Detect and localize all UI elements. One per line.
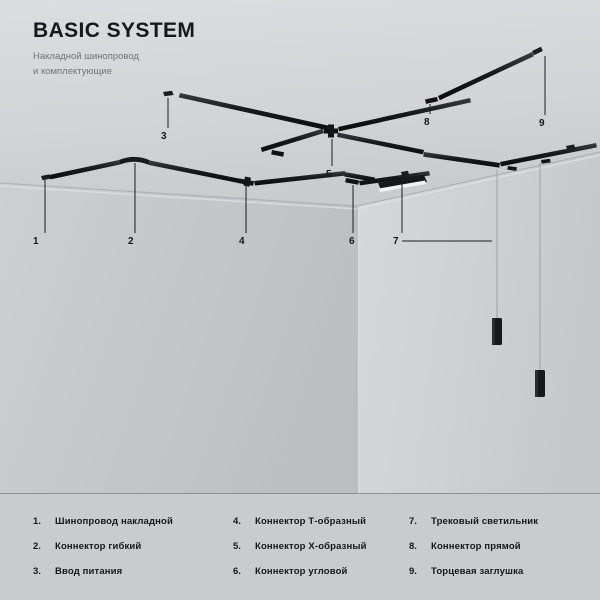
legend-item-1: 1. Шинопровод накладной xyxy=(33,516,173,527)
page-subtitle-line2: и комплектующие xyxy=(33,65,195,80)
legend-column-3: 7. Трековый светильник 8. Коннектор прям… xyxy=(409,516,538,591)
legend-number-2: 2. xyxy=(33,541,55,552)
legend-label-5: Коннектор Х-образный xyxy=(255,541,367,552)
legend-label-7: Трековый светильник xyxy=(431,516,538,527)
legend-item-9: 9. Торцевая заглушка xyxy=(409,566,538,577)
poster-header: BASIC SYSTEM Накладной шинопровод и комп… xyxy=(33,20,195,79)
section-divider xyxy=(0,493,600,494)
legend-number-3: 3. xyxy=(33,566,55,577)
legend-column-1: 1. Шинопровод накладной 2. Коннектор гиб… xyxy=(33,516,173,591)
callout-number-1: 1 xyxy=(33,237,39,247)
legend-number-8: 8. xyxy=(409,541,431,552)
legend-number-4: 4. xyxy=(233,516,255,527)
legend-item-4: 4. Коннектор Т-образный xyxy=(233,516,367,527)
callout-number-3: 3 xyxy=(161,132,167,142)
callout-number-7: 7 xyxy=(393,237,399,247)
callout-number-9: 9 xyxy=(539,119,545,129)
legend-item-7: 7. Трековый светильник xyxy=(409,516,538,527)
page-subtitle-line1: Накладной шинопровод xyxy=(33,50,195,65)
legend-label-2: Коннектор гибкий xyxy=(55,541,141,552)
legend-label-8: Коннектор прямой xyxy=(431,541,521,552)
callout-number-8: 8 xyxy=(424,118,430,128)
callout-number-4: 4 xyxy=(239,237,245,247)
legend-label-6: Коннектор угловой xyxy=(255,566,348,577)
legend-label-9: Торцевая заглушка xyxy=(431,566,523,577)
legend-number-9: 9. xyxy=(409,566,431,577)
legend-item-8: 8. Коннектор прямой xyxy=(409,541,538,552)
legend-number-7: 7. xyxy=(409,516,431,527)
legend-item-6: 6. Коннектор угловой xyxy=(233,566,367,577)
callout-number-6: 6 xyxy=(349,237,355,247)
legend-panel: 1. Шинопровод накладной 2. Коннектор гиб… xyxy=(0,494,600,600)
product-scene-image: 1 2 3 4 5 6 7 8 9 BASIC SYSTEM Накладной… xyxy=(0,0,600,494)
legend-item-3: 3. Ввод питания xyxy=(33,566,173,577)
legend-number-5: 5. xyxy=(233,541,255,552)
legend-number-1: 1. xyxy=(33,516,55,527)
legend-item-5: 5. Коннектор Х-образный xyxy=(233,541,367,552)
wall-left xyxy=(0,183,357,494)
legend-column-2: 4. Коннектор Т-образный 5. Коннектор Х-о… xyxy=(233,516,367,591)
callout-number-5: 5 xyxy=(326,170,332,180)
x-connector-5-cross xyxy=(328,125,334,138)
legend-label-1: Шинопровод накладной xyxy=(55,516,173,527)
wall-right xyxy=(357,152,600,494)
callout-number-2: 2 xyxy=(128,237,134,247)
legend-item-2: 2. Коннектор гибкий xyxy=(33,541,173,552)
legend-label-3: Ввод питания xyxy=(55,566,122,577)
legend-label-4: Коннектор Т-образный xyxy=(255,516,366,527)
legend-number-6: 6. xyxy=(233,566,255,577)
poster-root: 1 2 3 4 5 6 7 8 9 BASIC SYSTEM Накладной… xyxy=(0,0,600,600)
page-title: BASIC SYSTEM xyxy=(33,20,195,41)
